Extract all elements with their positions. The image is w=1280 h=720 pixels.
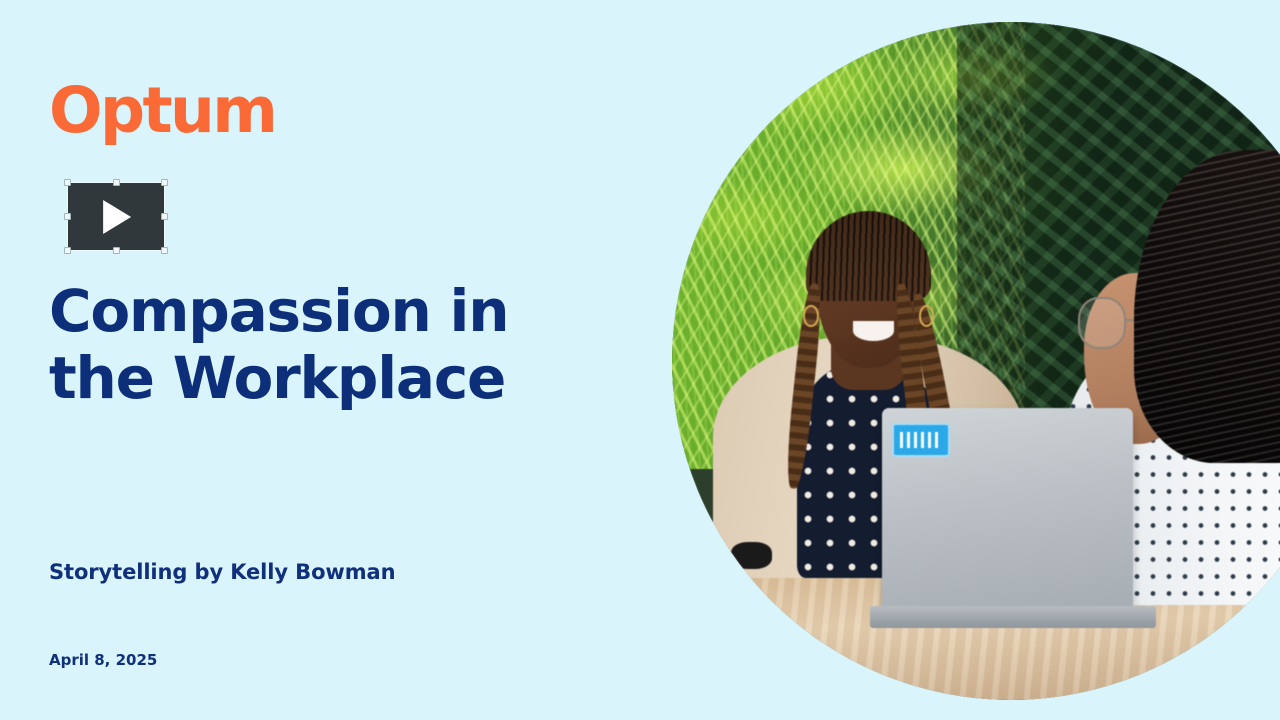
slide-date: April 8, 2025 <box>49 650 157 670</box>
page-title: Compassion in the Workplace <box>49 278 569 412</box>
wrist-watch <box>731 542 772 569</box>
photo-scene <box>672 22 1280 700</box>
smile <box>853 321 894 341</box>
selection-handle-bottom-middle[interactable] <box>113 247 120 254</box>
laptop-lid <box>882 408 1133 611</box>
play-icon[interactable] <box>103 200 131 234</box>
slide-left-column: Optum Compassion in the Workplace Storyt… <box>0 0 640 720</box>
presenter-byline: Storytelling by Kelly Bowman <box>49 559 395 585</box>
selection-handle-top-middle[interactable] <box>113 179 120 186</box>
hero-photo <box>672 22 1280 700</box>
optum-logo: Optum <box>49 79 275 142</box>
laptop-base <box>870 606 1156 628</box>
selection-handle-middle-left[interactable] <box>64 213 71 220</box>
selection-handle-top-left[interactable] <box>64 179 71 186</box>
video-placeholder[interactable] <box>68 183 164 250</box>
selection-handle-bottom-left[interactable] <box>64 247 71 254</box>
selection-handle-top-right[interactable] <box>161 179 168 186</box>
laptop-sticker <box>892 423 950 458</box>
video-frame[interactable] <box>68 183 164 250</box>
title-slide: Optum Compassion in the Workplace Storyt… <box>0 0 1280 720</box>
hoop-earring <box>803 305 819 327</box>
selection-handle-bottom-right[interactable] <box>161 247 168 254</box>
lens-left <box>1078 297 1127 349</box>
braided-hair <box>806 211 931 300</box>
selection-handle-middle-right[interactable] <box>161 213 168 220</box>
laptop <box>882 408 1133 611</box>
straight-dark-hair <box>1134 150 1280 463</box>
